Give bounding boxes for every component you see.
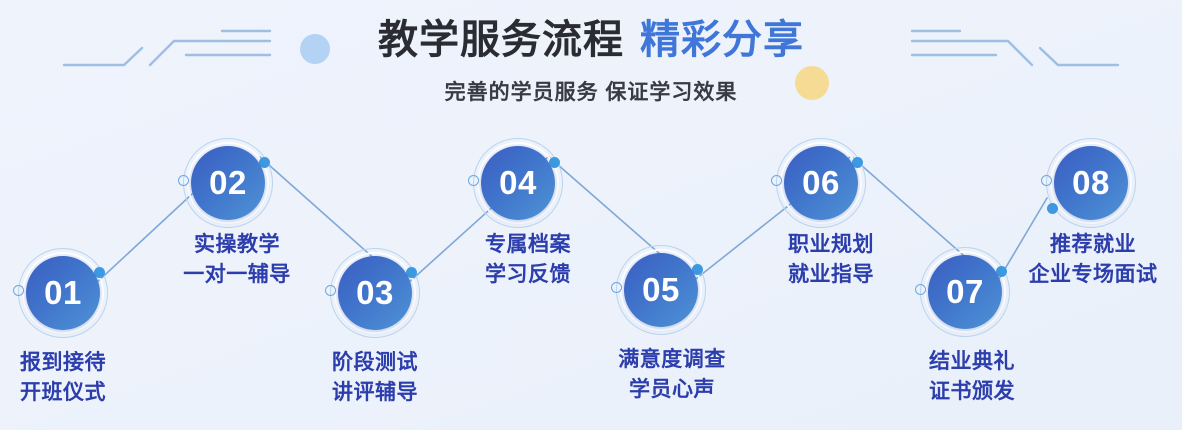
page-title-accent: 精彩分享 bbox=[640, 18, 804, 62]
step-number: 02 bbox=[209, 164, 247, 202]
node-number-disc: 07 bbox=[928, 255, 1002, 329]
node-number-disc: 01 bbox=[26, 256, 100, 330]
node-hollow-dot-icon bbox=[1041, 175, 1052, 186]
step-label-08: 推荐就业 企业专场面试 bbox=[1029, 230, 1158, 290]
process-flow: 01 报到接待 开班仪式 02 实操教学 一对一辅导 bbox=[0, 120, 1182, 430]
node-hollow-dot-icon bbox=[13, 285, 24, 296]
title-row: 教学服务流程精彩分享 bbox=[0, 14, 1182, 66]
step-label-line2: 证书颁发 bbox=[929, 377, 1015, 407]
step-label-line1: 专属档案 bbox=[485, 233, 571, 256]
step-label-line1: 实操教学 bbox=[194, 233, 280, 256]
node-hollow-dot-icon bbox=[178, 175, 189, 186]
node-hollow-dot-icon bbox=[915, 284, 926, 295]
node-hollow-dot-icon bbox=[468, 175, 479, 186]
node-number-disc: 05 bbox=[624, 253, 698, 327]
title-blue-dot-decoration bbox=[300, 34, 330, 64]
step-label-line2: 学习反馈 bbox=[485, 260, 571, 290]
step-label-04: 专属档案 学习反馈 bbox=[485, 230, 571, 290]
step-number: 05 bbox=[642, 271, 680, 309]
step-number: 04 bbox=[499, 164, 537, 202]
step-label-01: 报到接待 开班仪式 bbox=[20, 348, 106, 408]
step-number: 08 bbox=[1072, 164, 1110, 202]
page-subtitle: 完善的学员服务 保证学习效果 bbox=[0, 76, 1182, 106]
step-number: 06 bbox=[802, 164, 840, 202]
step-label-line1: 报到接待 bbox=[20, 351, 106, 374]
step-label-line1: 阶段测试 bbox=[332, 351, 418, 374]
step-label-line2: 就业指导 bbox=[788, 260, 874, 290]
step-label-line1: 满意度调查 bbox=[618, 348, 726, 371]
node-number-disc: 04 bbox=[481, 146, 555, 220]
step-number: 03 bbox=[356, 274, 394, 312]
step-label-line1: 结业典礼 bbox=[929, 350, 1015, 373]
step-number: 07 bbox=[946, 273, 984, 311]
step-label-line2: 学员心声 bbox=[618, 375, 726, 405]
step-number: 01 bbox=[44, 274, 82, 312]
node-number-disc: 06 bbox=[784, 146, 858, 220]
step-label-line1: 推荐就业 bbox=[1050, 233, 1136, 256]
step-label-line2: 开班仪式 bbox=[20, 378, 106, 408]
step-label-02: 实操教学 一对一辅导 bbox=[183, 230, 291, 290]
node-hollow-dot-icon bbox=[771, 175, 782, 186]
step-label-06: 职业规划 就业指导 bbox=[788, 230, 874, 290]
step-label-03: 阶段测试 讲评辅导 bbox=[332, 348, 418, 408]
page-title: 教学服务流程精彩分享 bbox=[378, 14, 804, 66]
node-hollow-dot-icon bbox=[325, 285, 336, 296]
step-label-line2: 企业专场面试 bbox=[1029, 260, 1158, 290]
step-label-07: 结业典礼 证书颁发 bbox=[929, 347, 1015, 407]
node-hollow-dot-icon bbox=[611, 282, 622, 293]
step-label-line2: 一对一辅导 bbox=[183, 260, 291, 290]
node-number-disc: 03 bbox=[338, 256, 412, 330]
step-label-line2: 讲评辅导 bbox=[332, 378, 418, 408]
infographic-canvas: 教学服务流程精彩分享 完善的学员服务 保证学习效果 bbox=[0, 0, 1182, 430]
node-number-disc: 02 bbox=[191, 146, 265, 220]
page-title-primary: 教学服务流程 bbox=[378, 18, 624, 62]
node-connector-dot-icon bbox=[1047, 203, 1058, 214]
header-section: 教学服务流程精彩分享 完善的学员服务 保证学习效果 bbox=[0, 0, 1182, 120]
step-label-05: 满意度调查 学员心声 bbox=[618, 345, 726, 405]
step-label-line1: 职业规划 bbox=[788, 233, 874, 256]
node-number-disc: 08 bbox=[1054, 146, 1128, 220]
